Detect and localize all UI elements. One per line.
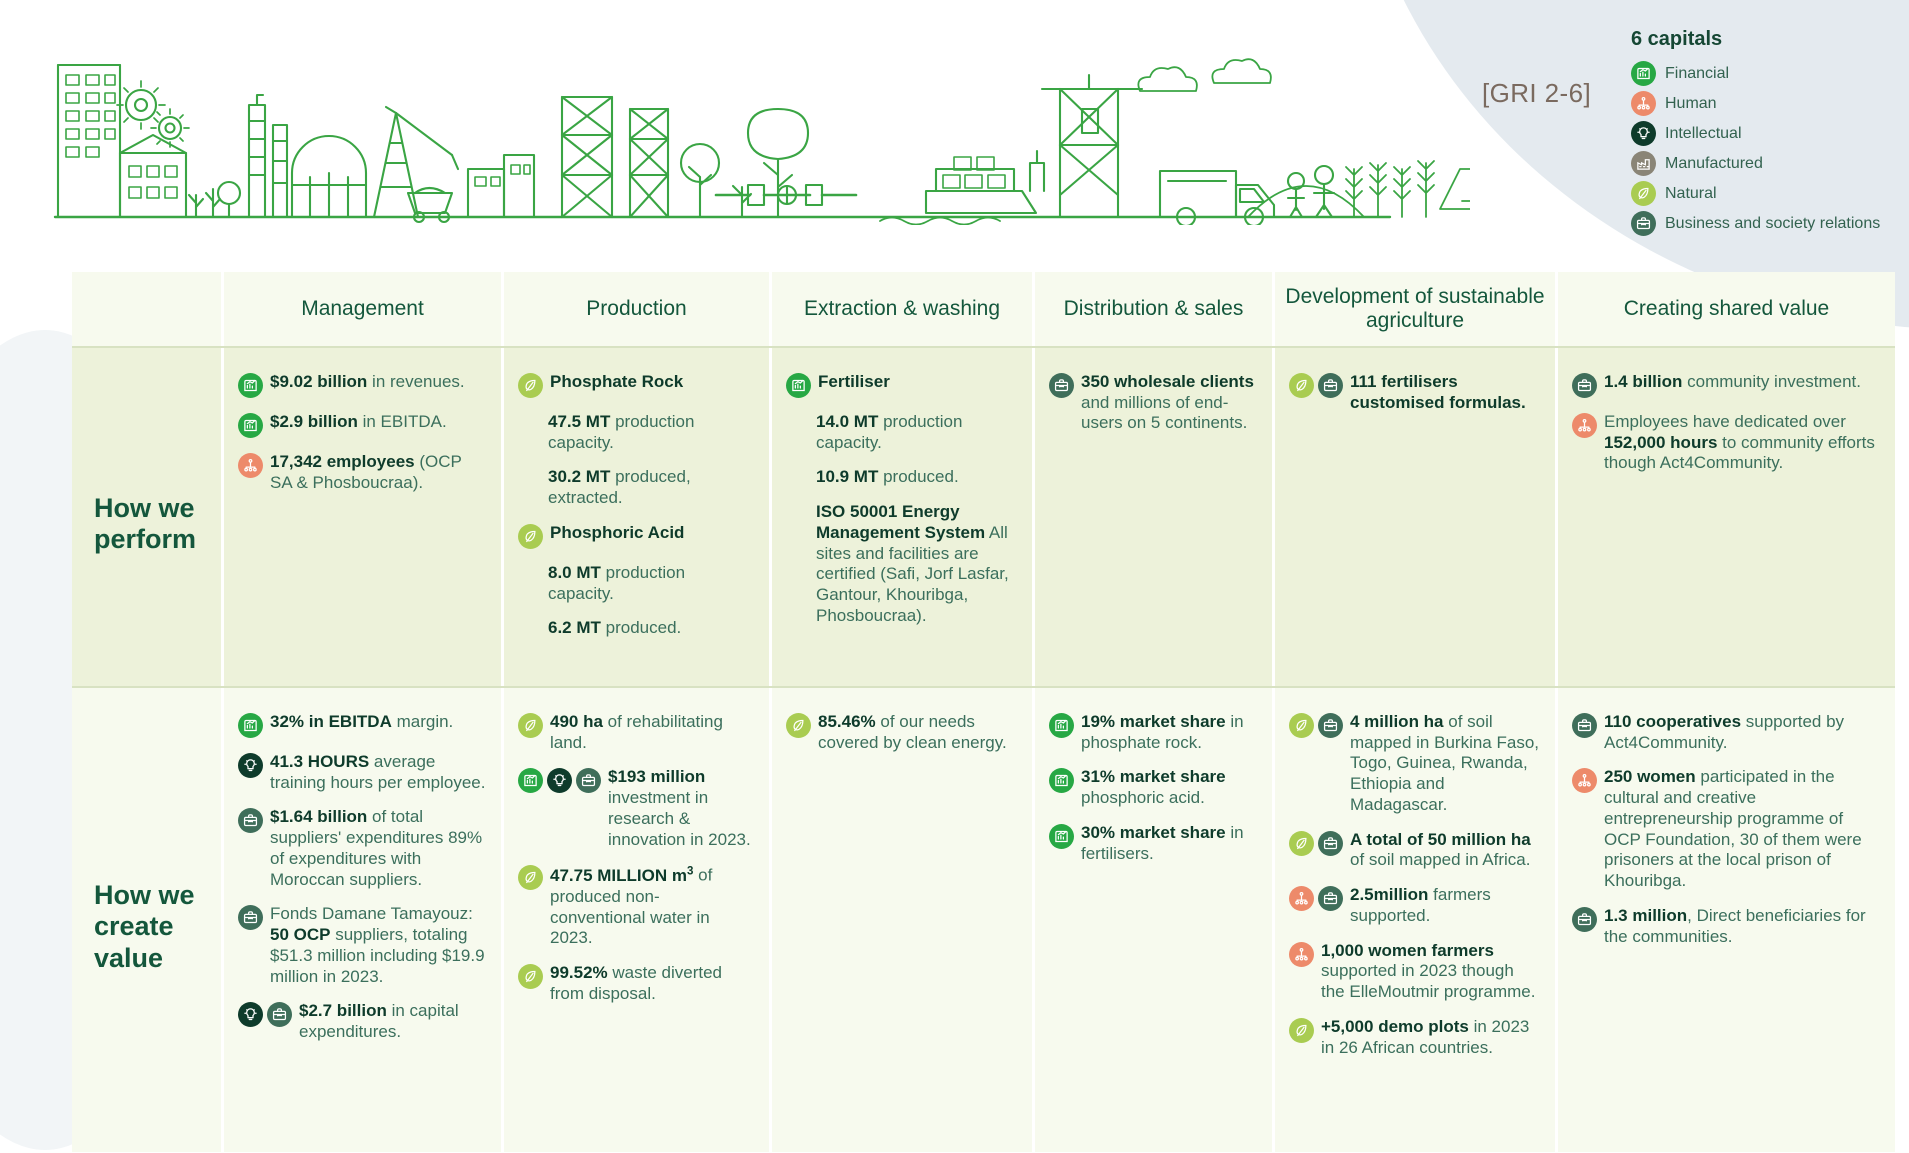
financial-capital-icon: [786, 373, 811, 398]
business-capital-icon: [238, 808, 263, 833]
table-cell: 32% in EBITDA margin.41.3 HOURS average …: [224, 688, 504, 1152]
metric-text: 32% in EBITDA margin.: [270, 712, 453, 733]
table-cell: $9.02 billion in revenues.$2.9 billion i…: [224, 348, 504, 686]
legend-item-financial: Financial: [1631, 61, 1889, 86]
capital-icon-group: [238, 1001, 292, 1027]
natural-capital-icon: [518, 964, 543, 989]
metric-item: 41.3 HOURS average training hours per em…: [238, 752, 487, 793]
six-capitals-legend: 6 capitals FinancialHumanIntellectualMan…: [1619, 28, 1889, 241]
column-header-6: Creating shared value: [1558, 272, 1895, 346]
financial-capital-icon: [1049, 824, 1074, 849]
metric-item: 19% market share in phosphate rock.: [1049, 712, 1258, 753]
metric-item: $9.02 billion in revenues.: [238, 372, 487, 398]
business-capital-icon: [1572, 907, 1597, 932]
legend-item-label: Natural: [1665, 185, 1717, 203]
financial-capital-icon: [238, 373, 263, 398]
metric-text: $1.64 billion of total suppliers' expend…: [270, 807, 487, 890]
capital-icon-group: [238, 752, 263, 778]
metric-item: A total of 50 million ha of soil mapped …: [1289, 830, 1541, 871]
legend-item-label: Business and society relations: [1665, 215, 1880, 233]
business-capital-icon: [267, 1002, 292, 1027]
business-capital-icon: [238, 905, 263, 930]
metric-text: 47.75 MILLION m3 of produced non-convent…: [550, 864, 755, 949]
metric-item: 1.4 billion community investment.: [1572, 372, 1881, 398]
table-cell: 110 cooperatives supported by Act4Commun…: [1558, 688, 1895, 1152]
intellectual-capital-icon: [1631, 121, 1656, 146]
intellectual-capital-icon: [238, 1002, 263, 1027]
metric-text: Phosphate Rock: [550, 372, 683, 393]
capital-icon-group: [786, 712, 811, 738]
metric-text: 350 wholesale clients and millions of en…: [1081, 372, 1258, 434]
table-row: How we perform$9.02 billion in revenues.…: [72, 346, 1895, 686]
metric-text: 30.2 MT produced, extracted.: [518, 467, 755, 508]
capital-icon-group: [518, 523, 543, 549]
metric-item: 1.3 million, Direct beneficiaries for th…: [1572, 906, 1881, 947]
capital-icon-group: [518, 963, 543, 989]
capital-icon-group: [238, 452, 263, 478]
metric-text: 30% market share in fertilisers.: [1081, 823, 1258, 864]
capital-icon-group: [1289, 885, 1343, 911]
human-capital-icon: [1631, 91, 1656, 116]
natural-capital-icon: [518, 865, 543, 890]
table-corner-cell: [72, 272, 224, 346]
capital-icon-group: [1572, 372, 1597, 398]
natural-capital-icon: [1289, 713, 1314, 738]
metric-text: 1.4 billion community investment.: [1604, 372, 1861, 393]
metric-text: $9.02 billion in revenues.: [270, 372, 465, 393]
human-capital-icon: [1572, 768, 1597, 793]
column-header-2: Production: [504, 272, 772, 346]
table-cell: 111 fertilisers customised formulas.: [1275, 348, 1558, 686]
capital-icon-group: [786, 372, 811, 398]
table-row: How we create value32% in EBITDA margin.…: [72, 686, 1895, 1152]
capital-icon-group: [1289, 372, 1343, 398]
metric-text: 2.5million farmers supported.: [1350, 885, 1541, 926]
capital-icon-group: [1289, 712, 1343, 738]
financial-capital-icon: [238, 713, 263, 738]
metric-item: 250 women participated in the cultural a…: [1572, 767, 1881, 891]
table-cell: 85.46% of our needs covered by clean ene…: [772, 688, 1035, 1152]
metric-item: 47.75 MILLION m3 of produced non-convent…: [518, 864, 755, 949]
metric-item: ISO 50001 Energy Management System All s…: [786, 502, 1018, 626]
capital-icon-group: [1289, 830, 1343, 856]
capital-icon-group: [1049, 823, 1074, 849]
column-header-5: Development of sustainable agriculture: [1275, 272, 1558, 346]
legend-item-natural: Natural: [1631, 181, 1889, 206]
metric-text: $2.7 billion in capital expenditures.: [299, 1001, 487, 1042]
metric-text: 1.3 million, Direct beneficiaries for th…: [1604, 906, 1881, 947]
metric-text: 17,342 employees (OCP SA & Phosboucraa).: [270, 452, 487, 493]
industrial-value-chain-illustration: [0, 35, 1470, 225]
metric-text: $193 million investment in research & in…: [608, 767, 755, 850]
capital-icon-group: [238, 412, 263, 438]
row-label: How we perform: [72, 348, 224, 686]
metric-item: Fonds Damane Tamayouz: 50 OCP suppliers,…: [238, 904, 487, 987]
metric-text: 41.3 HOURS average training hours per em…: [270, 752, 487, 793]
metric-item: 47.5 MT production capacity.: [518, 412, 755, 453]
capital-icon-group: [238, 712, 263, 738]
capital-icon-group: [1289, 941, 1314, 967]
metric-item: 32% in EBITDA margin.: [238, 712, 487, 738]
metric-item: 490 ha of rehabilitating land.: [518, 712, 755, 753]
capital-icon-group: [1572, 906, 1597, 932]
capital-icon-group: [518, 767, 601, 793]
capital-icon-group: [1572, 767, 1597, 793]
metric-text: 4 million ha of soil mapped in Burkina F…: [1350, 712, 1541, 816]
financial-capital-icon: [1631, 61, 1656, 86]
capital-icon-group: [1049, 767, 1074, 793]
table-body: How we perform$9.02 billion in revenues.…: [72, 346, 1895, 1152]
metric-item: Employees have dedicated over 152,000 ho…: [1572, 412, 1881, 474]
legend-item-label: Intellectual: [1665, 125, 1742, 143]
metric-item: Phosphate Rock: [518, 372, 755, 398]
intellectual-capital-icon: [547, 768, 572, 793]
legend-item-intellectual: Intellectual: [1631, 121, 1889, 146]
business-capital-icon: [1318, 886, 1343, 911]
metric-text: Employees have dedicated over 152,000 ho…: [1604, 412, 1881, 474]
metric-item: 1,000 women farmers supported in 2023 th…: [1289, 941, 1541, 1003]
table-cell: 19% market share in phosphate rock.31% m…: [1035, 688, 1275, 1152]
table-cell: Phosphate Rock47.5 MT production capacit…: [504, 348, 772, 686]
metric-text: A total of 50 million ha of soil mapped …: [1350, 830, 1541, 871]
metric-item: 6.2 MT produced.: [518, 618, 755, 639]
metric-text: Fertiliser: [818, 372, 890, 393]
human-capital-icon: [238, 453, 263, 478]
value-chain-table: ManagementProductionExtraction & washing…: [72, 272, 1895, 1152]
capital-icon-group: [1572, 712, 1597, 738]
metric-text: +5,000 demo plots in 2023 in 26 African …: [1321, 1017, 1541, 1058]
capital-icon-group: [1289, 1017, 1314, 1043]
metric-item: +5,000 demo plots in 2023 in 26 African …: [1289, 1017, 1541, 1058]
natural-capital-icon: [1631, 181, 1656, 206]
column-header-1: Management: [224, 272, 504, 346]
column-header-4: Distribution & sales: [1035, 272, 1275, 346]
metric-item: 111 fertilisers customised formulas.: [1289, 372, 1541, 413]
human-capital-icon: [1572, 413, 1597, 438]
metric-text: 47.5 MT production capacity.: [518, 412, 755, 453]
metric-text: 250 women participated in the cultural a…: [1604, 767, 1881, 891]
natural-capital-icon: [518, 524, 543, 549]
business-capital-icon: [1049, 373, 1074, 398]
metric-text: 111 fertilisers customised formulas.: [1350, 372, 1541, 413]
metric-text: 99.52% waste diverted from disposal.: [550, 963, 755, 1004]
legend-item-business: Business and society relations: [1631, 211, 1889, 236]
business-capital-icon: [1572, 373, 1597, 398]
metric-item: Fertiliser: [786, 372, 1018, 398]
metric-item: 2.5million farmers supported.: [1289, 885, 1541, 926]
metric-text: 10.9 MT produced.: [786, 467, 959, 488]
financial-capital-icon: [1049, 768, 1074, 793]
human-capital-icon: [1289, 942, 1314, 967]
metric-item: 30% market share in fertilisers.: [1049, 823, 1258, 864]
financial-capital-icon: [1049, 713, 1074, 738]
legend-item-manufactured: Manufactured: [1631, 151, 1889, 176]
column-header-3: Extraction & washing: [772, 272, 1035, 346]
metric-item: 99.52% waste diverted from disposal.: [518, 963, 755, 1004]
financial-capital-icon: [518, 768, 543, 793]
gri-reference-tag: [GRI 2-6]: [1482, 78, 1591, 109]
metric-item: Phosphoric Acid: [518, 523, 755, 549]
metric-text: 6.2 MT produced.: [518, 618, 681, 639]
capital-icon-group: [1049, 712, 1074, 738]
business-capital-icon: [1318, 373, 1343, 398]
capital-icon-group: [238, 904, 263, 930]
metric-text: 19% market share in phosphate rock.: [1081, 712, 1258, 753]
business-capital-icon: [1572, 713, 1597, 738]
table-cell: 350 wholesale clients and millions of en…: [1035, 348, 1275, 686]
legend-item-human: Human: [1631, 91, 1889, 116]
table-cell: Fertiliser14.0 MT production capacity.10…: [772, 348, 1035, 686]
natural-capital-icon: [518, 373, 543, 398]
legend-item-label: Manufactured: [1665, 155, 1763, 173]
capital-icon-group: [518, 712, 543, 738]
capital-icon-group: [238, 372, 263, 398]
metric-item: $193 million investment in research & in…: [518, 767, 755, 850]
table-header-row: ManagementProductionExtraction & washing…: [72, 272, 1895, 346]
table-cell: 1.4 billion community investment.Employe…: [1558, 348, 1895, 686]
metric-item: 8.0 MT production capacity.: [518, 563, 755, 604]
business-capital-icon: [1318, 831, 1343, 856]
metric-text: 1,000 women farmers supported in 2023 th…: [1321, 941, 1541, 1003]
metric-item: 4 million ha of soil mapped in Burkina F…: [1289, 712, 1541, 816]
natural-capital-icon: [518, 713, 543, 738]
row-label: How we create value: [72, 688, 224, 1152]
natural-capital-icon: [1289, 831, 1314, 856]
metric-text: 8.0 MT production capacity.: [518, 563, 755, 604]
metric-item: $2.9 billion in EBITDA.: [238, 412, 487, 438]
natural-capital-icon: [1289, 1018, 1314, 1043]
legend-item-label: Financial: [1665, 65, 1729, 83]
metric-text: 85.46% of our needs covered by clean ene…: [818, 712, 1018, 753]
legend-item-label: Human: [1665, 95, 1717, 113]
manufactured-capital-icon: [1631, 151, 1656, 176]
metric-item: 14.0 MT production capacity.: [786, 412, 1018, 453]
intellectual-capital-icon: [238, 753, 263, 778]
metric-item: 350 wholesale clients and millions of en…: [1049, 372, 1258, 434]
table-cell: 490 ha of rehabilitating land.$193 milli…: [504, 688, 772, 1152]
metric-text: 490 ha of rehabilitating land.: [550, 712, 755, 753]
table-cell: 4 million ha of soil mapped in Burkina F…: [1275, 688, 1558, 1152]
business-capital-icon: [1318, 713, 1343, 738]
metric-item: $2.7 billion in capital expenditures.: [238, 1001, 487, 1042]
legend-title: 6 capitals: [1631, 28, 1889, 51]
metric-item: 17,342 employees (OCP SA & Phosboucraa).: [238, 452, 487, 493]
metric-text: 31% market share phosphoric acid.: [1081, 767, 1258, 808]
business-capital-icon: [1631, 211, 1656, 236]
capital-icon-group: [518, 864, 543, 890]
metric-text: ISO 50001 Energy Management System All s…: [786, 502, 1018, 626]
metric-item: 30.2 MT produced, extracted.: [518, 467, 755, 508]
capital-icon-group: [1049, 372, 1074, 398]
human-capital-icon: [1289, 886, 1314, 911]
metric-item: 85.46% of our needs covered by clean ene…: [786, 712, 1018, 753]
metric-text: Fonds Damane Tamayouz: 50 OCP suppliers,…: [270, 904, 487, 987]
financial-capital-icon: [238, 413, 263, 438]
metric-text: $2.9 billion in EBITDA.: [270, 412, 447, 433]
natural-capital-icon: [786, 713, 811, 738]
metric-item: 10.9 MT produced.: [786, 467, 1018, 488]
metric-text: 14.0 MT production capacity.: [786, 412, 1018, 453]
natural-capital-icon: [1289, 373, 1314, 398]
metric-text: 110 cooperatives supported by Act4Commun…: [1604, 712, 1881, 753]
business-capital-icon: [576, 768, 601, 793]
capital-icon-group: [1572, 412, 1597, 438]
metric-item: 31% market share phosphoric acid.: [1049, 767, 1258, 808]
metric-item: 110 cooperatives supported by Act4Commun…: [1572, 712, 1881, 753]
metric-text: Phosphoric Acid: [550, 523, 684, 544]
capital-icon-group: [238, 807, 263, 833]
metric-item: $1.64 billion of total suppliers' expend…: [238, 807, 487, 890]
capital-icon-group: [518, 372, 543, 398]
